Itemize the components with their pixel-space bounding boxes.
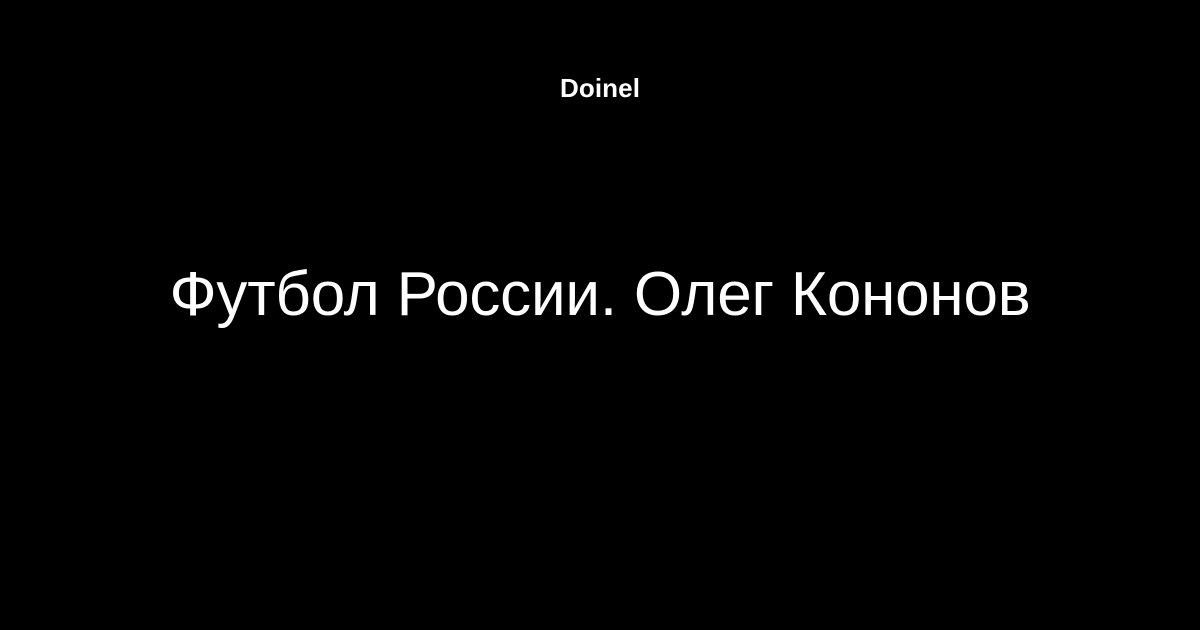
headline-container: Футбол России. Олег Кононов <box>60 258 1140 332</box>
page-title: Футбол России. Олег Кононов <box>60 258 1140 332</box>
og-preview-card: Doinel Футбол России. Олег Кононов <box>0 0 1200 630</box>
site-brand-name: Doinel <box>0 73 1200 103</box>
